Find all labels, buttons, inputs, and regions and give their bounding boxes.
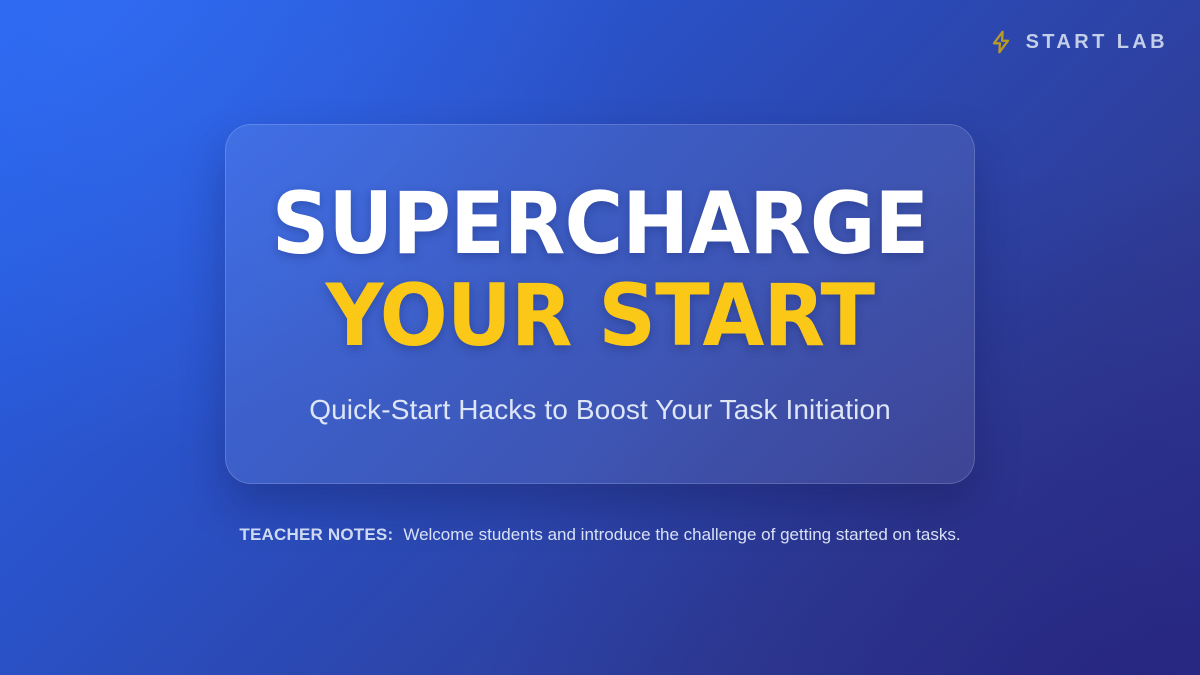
hero-card: SUPERCHARGE YOUR START Quick-Start Hacks… [225,124,975,484]
hero-title-line-1: SUPERCHARGE [272,182,929,266]
lightning-bolt-icon [988,29,1014,55]
teacher-notes: TEACHER NOTES: Welcome students and intr… [0,525,1200,545]
slide-root: START LAB SUPERCHARGE YOUR START Quick-S… [0,0,1200,675]
teacher-notes-text: Welcome students and introduce the chall… [403,525,960,545]
teacher-notes-label: TEACHER NOTES: [239,525,393,545]
hero-title-line-2: YOUR START [326,274,875,358]
hero-subtitle: Quick-Start Hacks to Boost Your Task Ini… [309,394,891,426]
brand-logo: START LAB [988,29,1168,55]
brand-name: START LAB [1026,31,1168,54]
